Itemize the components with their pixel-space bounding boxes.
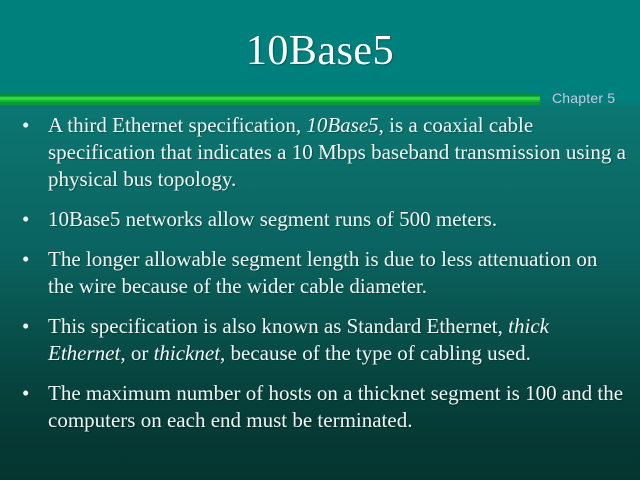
chapter-label: Chapter 5 bbox=[552, 90, 615, 106]
bullet-text: A third Ethernet specification, 10Base5,… bbox=[48, 112, 626, 193]
emphasis-run: thicknet bbox=[154, 341, 220, 365]
text-run: 10Base5 networks allow segment runs of 5… bbox=[48, 207, 497, 231]
emphasis-run: 10Base5 bbox=[306, 113, 378, 137]
divider-stripe-dark-bottom bbox=[0, 102, 540, 105]
bullet-item: •10Base5 networks allow segment runs of … bbox=[0, 206, 640, 233]
presentation-slide: 10Base5 Chapter 5 •A third Ethernet spec… bbox=[0, 0, 640, 480]
slide-title: 10Base5 bbox=[0, 28, 640, 74]
bullet-point-icon: • bbox=[22, 112, 48, 139]
text-run: The longer allowable segment length is d… bbox=[48, 247, 597, 298]
bullet-text: 10Base5 networks allow segment runs of 5… bbox=[48, 206, 626, 233]
bullet-text: This specification is also known as Stan… bbox=[48, 313, 626, 367]
bullet-point-icon: • bbox=[22, 380, 48, 407]
text-run: This specification is also known as Stan… bbox=[48, 314, 508, 338]
text-run: , or bbox=[120, 341, 153, 365]
bullet-point-icon: • bbox=[22, 246, 48, 273]
bullet-item: •The longer allowable segment length is … bbox=[0, 246, 640, 300]
text-run: , because of the type of cabling used. bbox=[220, 341, 531, 365]
text-run: A third Ethernet specification, bbox=[48, 113, 306, 137]
bullet-item: •The maximum number of hosts on a thickn… bbox=[0, 380, 640, 434]
slide-body: •A third Ethernet specification, 10Base5… bbox=[0, 112, 640, 447]
bullet-text: The longer allowable segment length is d… bbox=[48, 246, 626, 300]
bullet-item: •This specification is also known as Sta… bbox=[0, 313, 640, 367]
green-divider-bar bbox=[0, 94, 540, 105]
bullet-item: •A third Ethernet specification, 10Base5… bbox=[0, 112, 640, 193]
bullet-point-icon: • bbox=[22, 313, 48, 340]
slide-header: 10Base5 bbox=[0, 0, 640, 92]
bullet-point-icon: • bbox=[22, 206, 48, 233]
bullet-text: The maximum number of hosts on a thickne… bbox=[48, 380, 626, 434]
text-run: The maximum number of hosts on a thickne… bbox=[48, 381, 623, 432]
